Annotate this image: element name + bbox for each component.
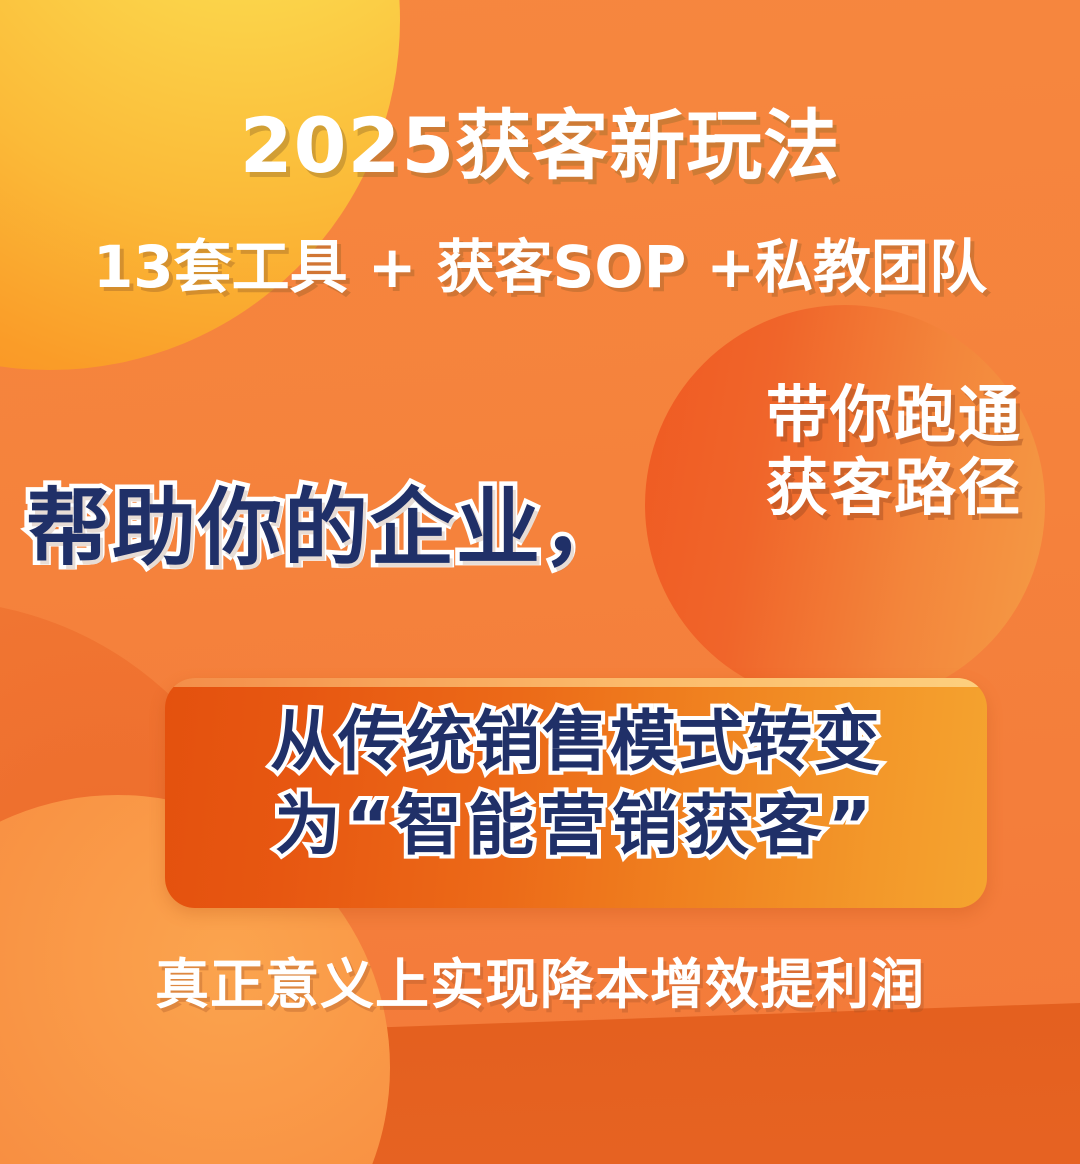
footer-tagline: 真正意义上实现降本增效提利润 <box>0 958 1080 1012</box>
right-headline-block: 带你跑通 获客路径 <box>766 378 1022 524</box>
callout-box: 从传统销售模式转变 为“智能营销获客” <box>165 678 987 908</box>
callout-text-block: 从传统销售模式转变 为“智能营销获客” <box>165 700 987 868</box>
page-title: 2025获客新玩法 <box>0 108 1080 184</box>
poster-content: 2025获客新玩法 13套工具 + 获客SOP +私教团队 带你跑通 获客路径 … <box>0 0 1080 1164</box>
callout-line-1: 从传统销售模式转变 <box>165 700 987 784</box>
left-headline: 帮助你的企业， <box>26 486 628 570</box>
right-headline-line-1: 带你跑通 <box>766 378 1022 451</box>
callout-line-2: 为“智能营销获客” <box>165 784 987 868</box>
promo-poster: 2025获客新玩法 13套工具 + 获客SOP +私教团队 带你跑通 获客路径 … <box>0 0 1080 1164</box>
right-headline-line-2: 获客路径 <box>766 451 1022 524</box>
page-subtitle: 13套工具 + 获客SOP +私教团队 <box>0 238 1080 296</box>
